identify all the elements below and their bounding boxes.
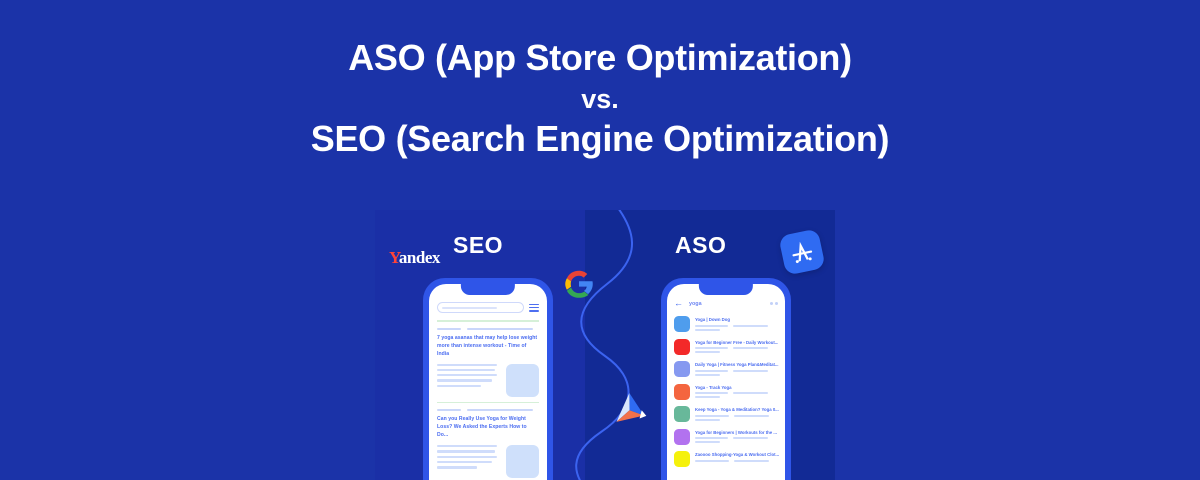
seo-result-thumbnail — [506, 364, 539, 397]
app-meta — [695, 347, 778, 349]
page-title: ASO (App Store Optimization) vs. SEO (Se… — [0, 40, 1200, 157]
aso-app-row[interactable]: Yoga - Track Yoga — [674, 384, 778, 400]
app-meta — [695, 392, 778, 394]
app-meta-line — [695, 441, 720, 443]
aso-search-bar: ← yoga — [674, 299, 778, 308]
app-meta — [695, 370, 779, 372]
seo-search-input[interactable] — [437, 302, 524, 313]
seo-result-body — [437, 364, 539, 397]
illustration-panel: SEO ASO Yandex — [375, 210, 835, 480]
aso-app-info: Zaoooo Shopping-Yoga & Workout Clot... — [695, 451, 779, 462]
app-name: Yoga for Beginners | Workouts for the ..… — [695, 430, 778, 435]
aso-phone-notch — [699, 284, 753, 295]
app-icon — [674, 316, 690, 332]
seo-result-thumbnail — [506, 445, 539, 478]
app-meta-line — [695, 374, 720, 376]
aso-app-row[interactable]: Yoga for Beginner Free - Daily Workout..… — [674, 339, 778, 355]
app-meta — [695, 460, 779, 462]
app-meta-line — [695, 351, 720, 353]
app-meta — [695, 415, 779, 417]
app-meta — [695, 325, 778, 327]
aso-app-info: Yoga - Track Yoga — [695, 384, 778, 399]
app-name: Zaoooo Shopping-Yoga & Workout Clot... — [695, 452, 779, 457]
seo-result-title[interactable]: Can you Really Use Yoga for Weight Loss?… — [437, 416, 539, 440]
aso-search-query[interactable]: yoga — [689, 301, 764, 307]
yandex-logo-y: Y — [389, 248, 399, 267]
google-play-icon — [607, 390, 653, 436]
app-meta — [695, 437, 778, 439]
seo-result-snippet — [437, 445, 500, 471]
seo-search-row — [437, 302, 539, 313]
seo-result[interactable]: 7 yoga asanas that may help lose weight … — [437, 328, 539, 397]
seo-result-body — [437, 445, 539, 478]
app-name: Daily Yoga | Fitness Yoga Plan&Meditat..… — [695, 362, 779, 367]
aso-app-info: Yoga for Beginners | Workouts for the ..… — [695, 429, 778, 444]
app-icon — [674, 406, 690, 422]
seo-phone-notch — [461, 284, 515, 295]
seo-phone-screen: 7 yoga asanas that may help lose weight … — [429, 284, 547, 480]
wavy-divider — [545, 210, 665, 480]
aso-phone-screen: ← yoga Yoga | Down Dog — [667, 284, 785, 480]
seo-divider — [437, 402, 539, 404]
label-aso: ASO — [675, 232, 726, 259]
hamburger-menu-icon[interactable] — [529, 304, 539, 312]
seo-phone: 7 yoga asanas that may help lose weight … — [423, 278, 553, 480]
app-icon — [674, 361, 690, 377]
aso-app-info: Daily Yoga | Fitness Yoga Plan&Meditat..… — [695, 361, 779, 376]
title-line-vs: vs. — [0, 86, 1200, 113]
app-icon — [674, 429, 690, 445]
aso-app-row[interactable]: Keep Yoga - Yoga & Meditation? Yoga 0... — [674, 406, 778, 422]
app-icon — [674, 451, 690, 467]
title-line-aso: ASO (App Store Optimization) — [0, 40, 1200, 76]
aso-app-row[interactable]: Yoga for Beginners | Workouts for the ..… — [674, 429, 778, 445]
aso-store-content: ← yoga Yoga | Down Dog — [667, 284, 785, 467]
seo-browser-content: 7 yoga asanas that may help lose weight … — [429, 284, 547, 480]
aso-app-row[interactable]: Yoga | Down Dog — [674, 316, 778, 332]
back-arrow-icon[interactable]: ← — [674, 299, 683, 308]
app-meta-line — [695, 396, 720, 398]
seo-result-meta — [437, 328, 539, 330]
aso-app-row[interactable]: Zaoooo Shopping-Yoga & Workout Clot... — [674, 451, 778, 467]
title-line-seo: SEO (Search Engine Optimization) — [0, 121, 1200, 157]
seo-divider — [437, 320, 539, 322]
yandex-logo: Yandex — [389, 248, 440, 268]
app-name: Keep Yoga - Yoga & Meditation? Yoga 0... — [695, 407, 779, 412]
aso-app-info: Yoga for Beginner Free - Daily Workout..… — [695, 339, 778, 354]
aso-phone: ← yoga Yoga | Down Dog — [661, 278, 791, 480]
aso-app-info: Keep Yoga - Yoga & Meditation? Yoga 0... — [695, 406, 779, 421]
app-meta-line — [695, 419, 720, 421]
aso-app-row[interactable]: Daily Yoga | Fitness Yoga Plan&Meditat..… — [674, 361, 778, 377]
seo-result-title[interactable]: 7 yoga asanas that may help lose weight … — [437, 335, 539, 359]
aso-app-info: Yoga | Down Dog — [695, 316, 778, 331]
page-root: ASO (App Store Optimization) vs. SEO (Se… — [0, 0, 1200, 480]
app-name: Yoga for Beginner Free - Daily Workout..… — [695, 340, 778, 345]
aso-toggle-view-icon[interactable] — [770, 302, 779, 305]
app-name: Yoga - Track Yoga — [695, 385, 778, 390]
seo-result-meta — [437, 409, 539, 411]
app-icon — [674, 339, 690, 355]
google-g-icon — [557, 262, 601, 306]
label-seo: SEO — [453, 232, 503, 259]
app-meta-line — [695, 329, 720, 331]
seo-result[interactable]: Can you Really Use Yoga for Weight Loss?… — [437, 409, 539, 478]
app-store-glyph — [786, 236, 817, 269]
yandex-logo-text: andex — [399, 248, 440, 267]
seo-result-snippet — [437, 364, 500, 390]
app-icon — [674, 384, 690, 400]
app-name: Yoga | Down Dog — [695, 317, 778, 322]
